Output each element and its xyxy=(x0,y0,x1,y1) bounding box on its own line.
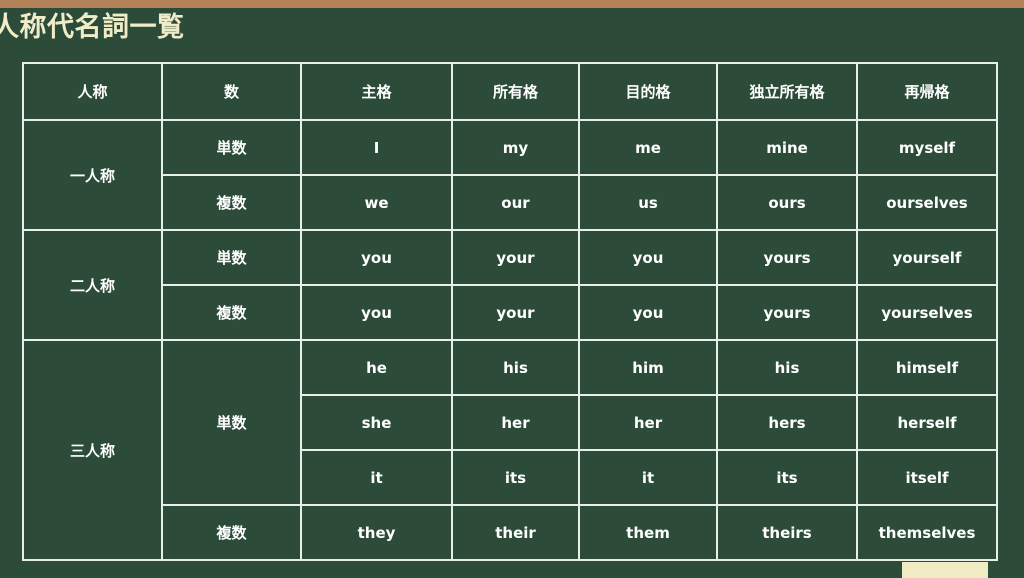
top-accent-bar xyxy=(0,0,1024,8)
cell-independent-possessive: mine xyxy=(717,120,857,175)
cell-subjective: you xyxy=(301,285,452,340)
cell-possessive: my xyxy=(452,120,579,175)
pronoun-table-container: 人称 数 主格 所有格 目的格 独立所有格 再帰格 一人称 単数 I my me… xyxy=(22,62,996,558)
cell-possessive: our xyxy=(452,175,579,230)
number-label-plural: 複数 xyxy=(162,505,301,560)
cell-objective: him xyxy=(579,340,717,395)
number-label-singular: 単数 xyxy=(162,340,301,505)
cell-possessive: your xyxy=(452,285,579,340)
table-row: 二人称 単数 you your you yours yourself xyxy=(23,230,997,285)
cell-independent-possessive: ours xyxy=(717,175,857,230)
table-row: 複数 we our us ours ourselves xyxy=(23,175,997,230)
table-row: 一人称 単数 I my me mine myself xyxy=(23,120,997,175)
cell-subjective: we xyxy=(301,175,452,230)
cell-independent-possessive: his xyxy=(717,340,857,395)
cell-subjective: they xyxy=(301,505,452,560)
cell-objective: them xyxy=(579,505,717,560)
table-row: 複数 you your you yours yourselves xyxy=(23,285,997,340)
cell-subjective: you xyxy=(301,230,452,285)
cell-possessive: its xyxy=(452,450,579,505)
cell-reflexive: themselves xyxy=(857,505,997,560)
table-body: 一人称 単数 I my me mine myself 複数 we our us … xyxy=(23,120,997,560)
pronoun-table: 人称 数 主格 所有格 目的格 独立所有格 再帰格 一人称 単数 I my me… xyxy=(22,62,998,561)
cell-objective: me xyxy=(579,120,717,175)
cell-independent-possessive: yours xyxy=(717,285,857,340)
cell-independent-possessive: yours xyxy=(717,230,857,285)
cell-subjective: she xyxy=(301,395,452,450)
cell-independent-possessive: hers xyxy=(717,395,857,450)
cell-possessive: their xyxy=(452,505,579,560)
person-label-second: 二人称 xyxy=(23,230,162,340)
cell-reflexive: yourself xyxy=(857,230,997,285)
cell-objective: you xyxy=(579,285,717,340)
column-header-number: 数 xyxy=(162,63,301,120)
cell-possessive: his xyxy=(452,340,579,395)
person-label-first: 一人称 xyxy=(23,120,162,230)
cell-possessive: her xyxy=(452,395,579,450)
cell-reflexive: ourselves xyxy=(857,175,997,230)
column-header-objective: 目的格 xyxy=(579,63,717,120)
cell-objective: it xyxy=(579,450,717,505)
cell-subjective: it xyxy=(301,450,452,505)
table-header-row: 人称 数 主格 所有格 目的格 独立所有格 再帰格 xyxy=(23,63,997,120)
column-header-reflexive: 再帰格 xyxy=(857,63,997,120)
column-header-independent-possessive: 独立所有格 xyxy=(717,63,857,120)
cell-independent-possessive: its xyxy=(717,450,857,505)
cell-subjective: he xyxy=(301,340,452,395)
cell-objective: us xyxy=(579,175,717,230)
number-label: 単数 xyxy=(162,120,301,175)
column-header-person: 人称 xyxy=(23,63,162,120)
number-label: 複数 xyxy=(162,285,301,340)
cell-objective: her xyxy=(579,395,717,450)
cell-reflexive: herself xyxy=(857,395,997,450)
table-row: 複数 they their them theirs themselves xyxy=(23,505,997,560)
cell-reflexive: myself xyxy=(857,120,997,175)
number-label: 複数 xyxy=(162,175,301,230)
cell-reflexive: yourselves xyxy=(857,285,997,340)
column-header-subjective: 主格 xyxy=(301,63,452,120)
table-row: 三人称 単数 he his him his himself xyxy=(23,340,997,395)
cell-objective: you xyxy=(579,230,717,285)
cell-subjective: I xyxy=(301,120,452,175)
cell-independent-possessive: theirs xyxy=(717,505,857,560)
cell-reflexive: itself xyxy=(857,450,997,505)
number-label: 単数 xyxy=(162,230,301,285)
person-label-third: 三人称 xyxy=(23,340,162,560)
cell-reflexive: himself xyxy=(857,340,997,395)
cell-possessive: your xyxy=(452,230,579,285)
page-title: 人称代名詞一覧 xyxy=(0,12,392,44)
column-header-possessive: 所有格 xyxy=(452,63,579,120)
table-header: 人称 数 主格 所有格 目的格 独立所有格 再帰格 xyxy=(23,63,997,120)
